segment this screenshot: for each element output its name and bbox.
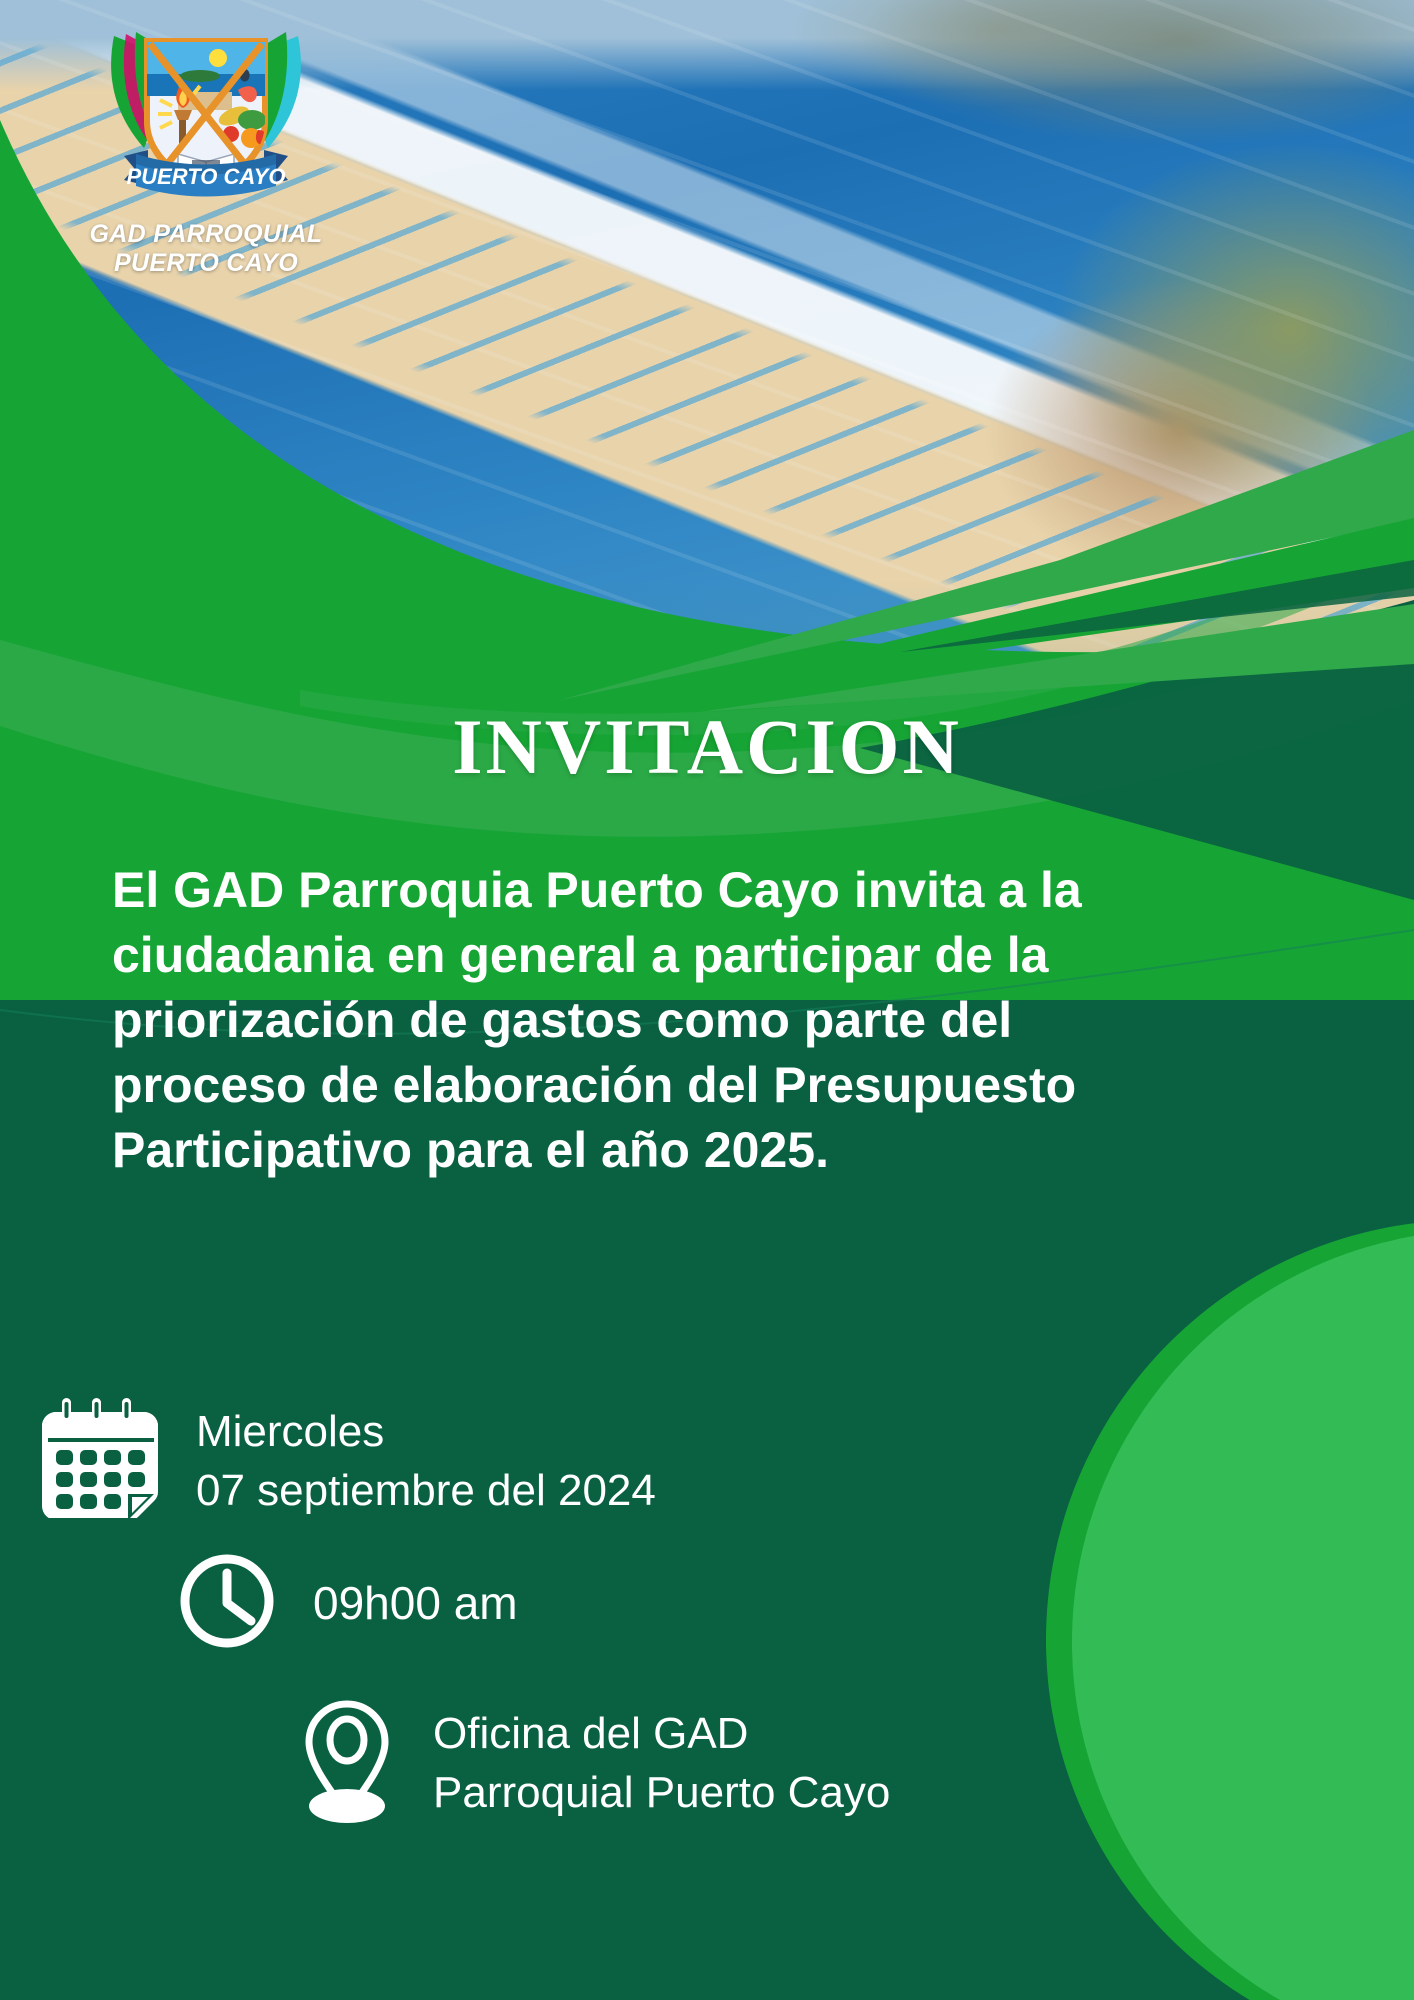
- event-date-label: Miercoles 07 septiembre del 2024: [196, 1398, 656, 1521]
- crest-melon: [238, 110, 266, 130]
- event-time-row: 09h00 am: [0, 1549, 1200, 1658]
- event-place-label: Oficina del GAD Parroquial Puerto Cayo: [433, 1694, 890, 1823]
- calendar-icon: [40, 1398, 162, 1523]
- event-place-row: Oficina del GAD Parroquial Puerto Cayo: [0, 1694, 1200, 1829]
- logo-block: PUERTO CAYO GAD PARROQUIAL PUERTO CAYO: [56, 18, 356, 278]
- event-time-label: 09h00 am: [313, 1572, 518, 1634]
- event-date-row: Miercoles 07 septiembre del 2024: [0, 1398, 1200, 1523]
- invitation-body-text: El GAD Parroquia Puerto Cayo invita a la…: [112, 858, 1122, 1183]
- event-details: Miercoles 07 septiembre del 2024 09h00 a…: [0, 1398, 1200, 1855]
- location-pin-icon: [295, 1694, 399, 1829]
- clock-icon: [175, 1549, 279, 1658]
- crest-sun: [209, 49, 227, 67]
- invitation-poster: PUERTO CAYO GAD PARROQUIAL PUERTO CAYO I…: [0, 0, 1414, 2000]
- photo-bottom-shade: [0, 580, 1414, 700]
- crest-island: [180, 70, 220, 82]
- organization-name: GAD PARROQUIAL PUERTO CAYO: [56, 220, 356, 278]
- puerto-cayo-coat-of-arms: PUERTO CAYO: [100, 18, 312, 214]
- crest-banner-text: PUERTO CAYO: [127, 164, 286, 189]
- page-title: INVITACION: [0, 702, 1414, 792]
